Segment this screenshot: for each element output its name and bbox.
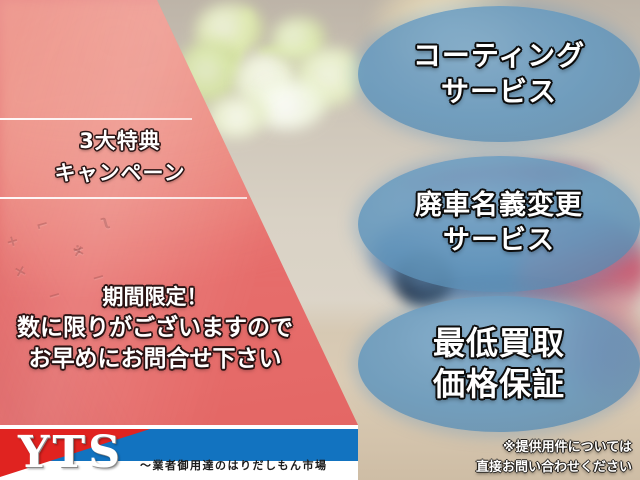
disclaimer-line-2: 直接お問い合わせください bbox=[412, 458, 632, 478]
badge-coating-service[interactable]: コーティング サービス bbox=[358, 6, 640, 142]
campaign-headline: 3大特典 bbox=[0, 126, 240, 156]
badge-deregistration-service[interactable]: 廃車名義変更 サービス bbox=[358, 156, 640, 292]
divider-rule-top bbox=[0, 118, 192, 120]
limited-time-notice: 期間限定！ 数に限りがございますので お早めにお問合せ下さい bbox=[0, 282, 310, 375]
disclaimer-line-1: ※提供用件については bbox=[412, 438, 632, 458]
badge-line-2: サービス bbox=[443, 224, 555, 259]
campaign-subheadline: キャンペーン bbox=[0, 156, 240, 190]
campaign-heading: 3大特典 キャンペーン bbox=[0, 126, 240, 190]
badge-line-1: 最低買取 bbox=[433, 323, 565, 364]
badge-line-2: 価格保証 bbox=[433, 364, 565, 405]
divider-rule-bottom bbox=[0, 197, 247, 199]
badge-line-1: コーティング bbox=[413, 38, 585, 74]
logo-wordmark: YTS bbox=[18, 427, 123, 478]
advertisement-banner: ʅ ⌐ + × ÷ × − − 3大特典 キャンペーン 期間限定！ 数に限りがご… bbox=[0, 0, 640, 480]
badge-line-2: サービス bbox=[441, 74, 557, 110]
notice-line-2: 数に限りがございますので bbox=[0, 313, 310, 344]
badge-minimum-price-guarantee[interactable]: 最低買取 価格保証 bbox=[358, 296, 640, 432]
notice-line-3: お早めにお問合せ下さい bbox=[0, 344, 310, 375]
notice-line-1: 期間限定！ bbox=[0, 282, 310, 313]
disclaimer-text: ※提供用件については 直接お問い合わせください bbox=[412, 438, 632, 478]
badge-line-1: 廃車名義変更 bbox=[415, 189, 583, 224]
logo-tagline: 〜業者御用達のはりだしもん市場 bbox=[140, 457, 355, 473]
